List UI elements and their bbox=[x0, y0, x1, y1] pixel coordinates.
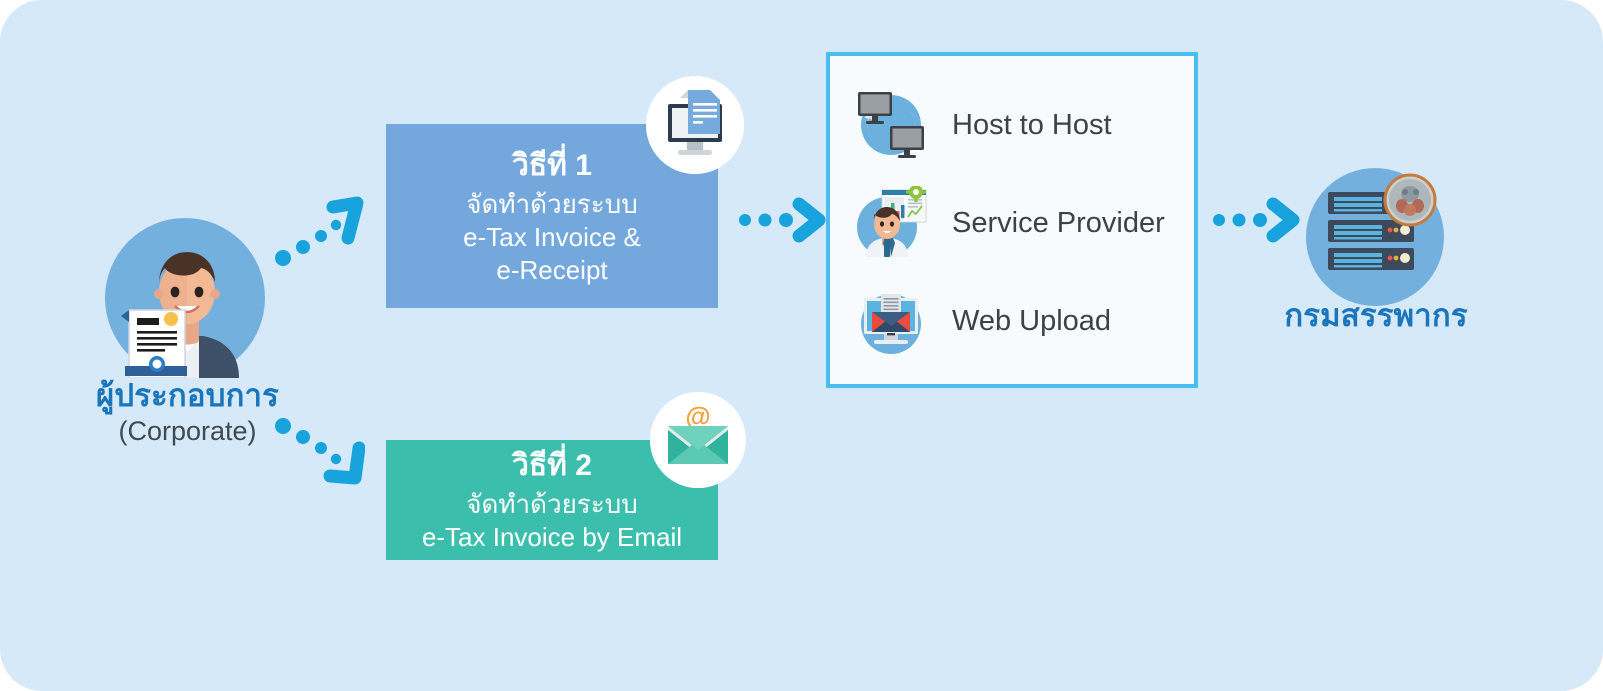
delivery-channels-panel: Host to Host bbox=[826, 52, 1198, 388]
monitor-envelope-upload-icon bbox=[854, 284, 928, 358]
connector-method-1-to-channels bbox=[737, 196, 827, 244]
email-at-envelope-icon: @ bbox=[650, 392, 746, 488]
channel-label-service-provider: Service Provider bbox=[952, 206, 1165, 240]
channel-label-web-upload: Web Upload bbox=[952, 304, 1111, 338]
businessman-with-document-icon bbox=[105, 218, 265, 378]
monitor-document-icon bbox=[646, 76, 744, 174]
method-2-title: วิธีที่ 2 bbox=[512, 446, 592, 486]
channel-label-host-to-host: Host to Host bbox=[952, 108, 1112, 142]
dotted-arrow-right-icon bbox=[737, 196, 827, 244]
two-monitors-sync-icon bbox=[854, 88, 928, 162]
method-1-badge bbox=[646, 76, 744, 174]
actor-icon-group bbox=[105, 218, 265, 378]
diagram-canvas: ผู้ประกอบการ (Corporate) วิธีที่ 1 จัดทำ… bbox=[0, 0, 1603, 691]
destination-label: กรมสรรพากร bbox=[1236, 298, 1516, 334]
method-2-badge: @ bbox=[650, 392, 746, 488]
dotted-arrow-up-right-icon bbox=[275, 192, 365, 272]
method-2-line-1: จัดทำด้วยระบบ bbox=[466, 488, 638, 521]
method-1-line-3: e-Receipt bbox=[496, 254, 607, 287]
channel-item-host-to-host[interactable]: Host to Host bbox=[854, 88, 1112, 162]
destination-label-th: กรมสรรพากร bbox=[1236, 298, 1516, 334]
server-rack-with-seal-icon bbox=[1306, 168, 1444, 306]
actor-label-th: ผู้ประกอบการ bbox=[60, 378, 315, 414]
destination-icon-group bbox=[1306, 168, 1444, 306]
service-agent-dashboard-icon bbox=[854, 186, 928, 260]
connector-channels-to-destination bbox=[1211, 196, 1301, 244]
method-1-line-1: จัดทำด้วยระบบ bbox=[466, 188, 638, 221]
method-2-line-2: e-Tax Invoice by Email bbox=[422, 521, 682, 554]
dotted-arrow-down-right-icon bbox=[275, 412, 365, 492]
dotted-arrow-right-icon bbox=[1211, 196, 1301, 244]
method-1-title: วิธีที่ 1 bbox=[512, 146, 592, 186]
channel-item-web-upload[interactable]: Web Upload bbox=[854, 284, 1111, 358]
channel-item-service-provider[interactable]: Service Provider bbox=[854, 186, 1165, 260]
connector-actor-to-method-2 bbox=[275, 412, 365, 492]
method-1-line-2: e-Tax Invoice & bbox=[463, 221, 641, 254]
connector-actor-to-method-1 bbox=[275, 192, 365, 272]
